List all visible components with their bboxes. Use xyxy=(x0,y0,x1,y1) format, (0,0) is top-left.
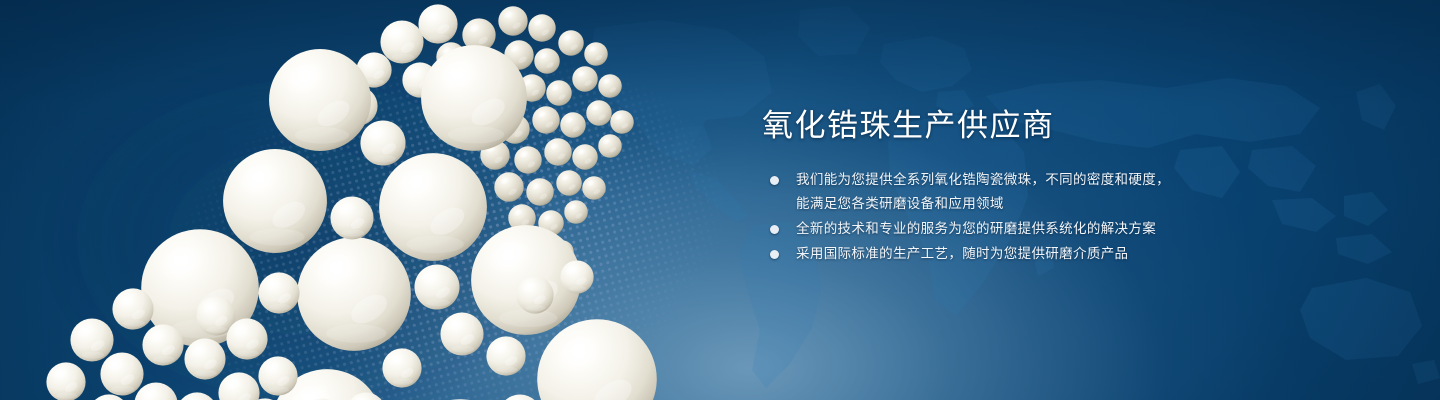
bullet-dot-icon xyxy=(770,176,779,185)
page-title: 氧化锆珠生产供应商 xyxy=(762,106,1055,146)
banner-copy: 氧化锆珠生产供应商 我们能为您提供全系列氧化锆陶瓷微珠，不同的密度和硬度， 能满… xyxy=(762,0,1302,400)
list-item: 全新的技术和专业的服务为您的研磨提供系统化的解决方案 xyxy=(766,217,1236,241)
hero-banner: 氧化锆珠生产供应商 我们能为您提供全系列氧化锆陶瓷微珠，不同的密度和硬度， 能满… xyxy=(0,0,1440,400)
list-item: 采用国际标准的生产工艺，随时为您提供研磨介质产品 xyxy=(766,242,1236,266)
bullet-line: 全新的技术和专业的服务为您的研磨提供系统化的解决方案 xyxy=(796,217,1236,241)
bullet-line: 采用国际标准的生产工艺，随时为您提供研磨介质产品 xyxy=(796,242,1236,266)
list-item: 我们能为您提供全系列氧化锆陶瓷微珠，不同的密度和硬度， 能满足您各类研磨设备和应… xyxy=(766,168,1236,216)
bullet-dot-icon xyxy=(770,225,779,234)
bullet-line: 能满足您各类研磨设备和应用领域 xyxy=(796,192,1236,216)
bullet-line: 我们能为您提供全系列氧化锆陶瓷微珠，不同的密度和硬度， xyxy=(796,168,1236,192)
bullet-dot-icon xyxy=(770,250,779,259)
feature-list: 我们能为您提供全系列氧化锆陶瓷微珠，不同的密度和硬度， 能满足您各类研磨设备和应… xyxy=(766,168,1236,267)
